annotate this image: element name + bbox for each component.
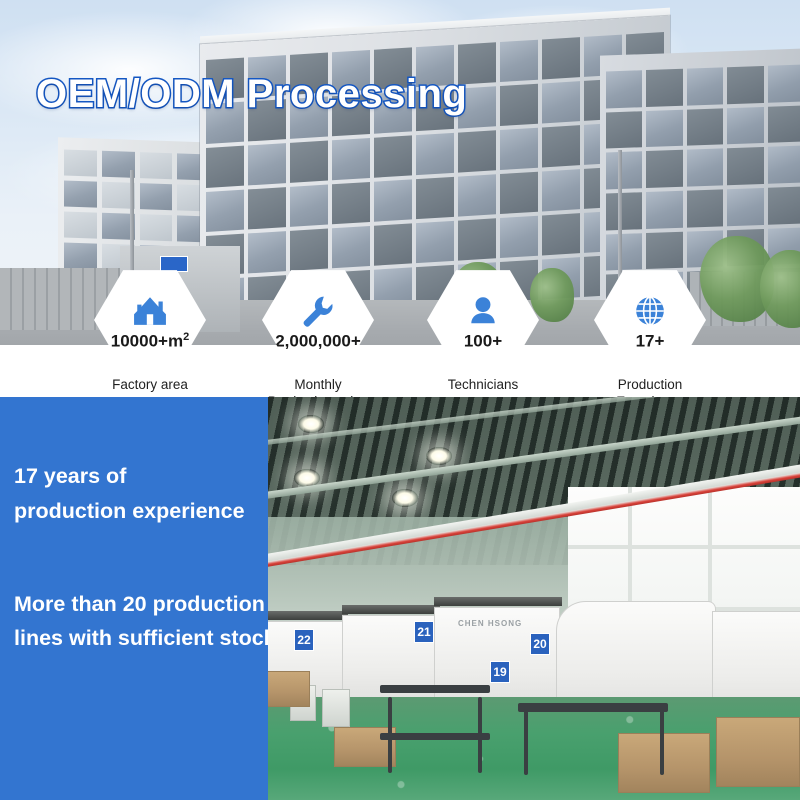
highlight-line-1: 17 years of [14, 459, 268, 494]
hex-shape: 2,000,000+ [262, 268, 374, 372]
stat-badge-production-experience[interactable]: 17+ Production Experience [594, 268, 706, 411]
oem-odm-banner: OEM/ODM Processing 10000+m2 Factory area… [0, 0, 800, 800]
highlight-line-2: production experience [14, 494, 268, 529]
cardboard-box [268, 671, 310, 707]
stat-value: 10000+m2 [111, 332, 189, 350]
workbench-leg [524, 709, 528, 775]
machine-number-plate: 22 [294, 629, 314, 651]
machine-top-rail [268, 611, 348, 620]
stat-value: 2,000,000+ [275, 332, 361, 350]
stat-badge-technicians[interactable]: 100+ Technicians [427, 268, 539, 393]
ceiling-lamp [392, 489, 418, 507]
machine-brand-label: CHEN HSONG [458, 619, 522, 628]
workbench-top [518, 703, 668, 712]
machine-number-plate: 19 [490, 661, 510, 683]
stat-value: 100+ [464, 332, 502, 350]
ceiling-lamp [426, 447, 452, 465]
machine-number-plate: 21 [414, 621, 434, 643]
cardboard-box [618, 733, 710, 793]
person-icon [466, 295, 500, 327]
machine-number-plate: 20 [530, 633, 550, 655]
highlight-line-4: lines with sufficient stock [14, 621, 268, 656]
stat-badge-monthly-production-value[interactable]: 2,000,000+ Monthly Production value [262, 268, 374, 411]
stat-label: Technicians [408, 376, 558, 393]
stats-row: 10000+m2 Factory area 2,000,000+ Monthly… [0, 268, 800, 393]
page-title: OEM/ODM Processing [36, 72, 467, 117]
ceiling-lamp [298, 415, 324, 433]
workshop-section: 17 years of production experience More t… [0, 397, 800, 800]
highlight-line-3: More than 20 production [14, 587, 268, 622]
stat-label: Factory area [75, 376, 225, 393]
highlight-panel: 17 years of production experience More t… [0, 397, 268, 800]
wrench-icon [301, 295, 335, 327]
workbench-leg [660, 709, 664, 775]
factory-icon [133, 295, 167, 327]
cardboard-box [716, 717, 800, 787]
machine-top-rail [434, 597, 562, 606]
cart-shelf [380, 733, 490, 740]
stat-value: 17+ [636, 332, 665, 350]
hex-shape: 100+ [427, 268, 539, 372]
hex-shape: 17+ [594, 268, 706, 372]
globe-icon [633, 295, 667, 327]
stat-badge-factory-area[interactable]: 10000+m2 Factory area [94, 268, 206, 393]
workshop-photo: 22 21 CHEN HSONG 20 19 [268, 397, 800, 800]
cart-shelf [380, 685, 490, 693]
machine-top-rail [342, 605, 440, 614]
stool [322, 689, 350, 727]
hex-shape: 10000+m2 [94, 268, 206, 372]
